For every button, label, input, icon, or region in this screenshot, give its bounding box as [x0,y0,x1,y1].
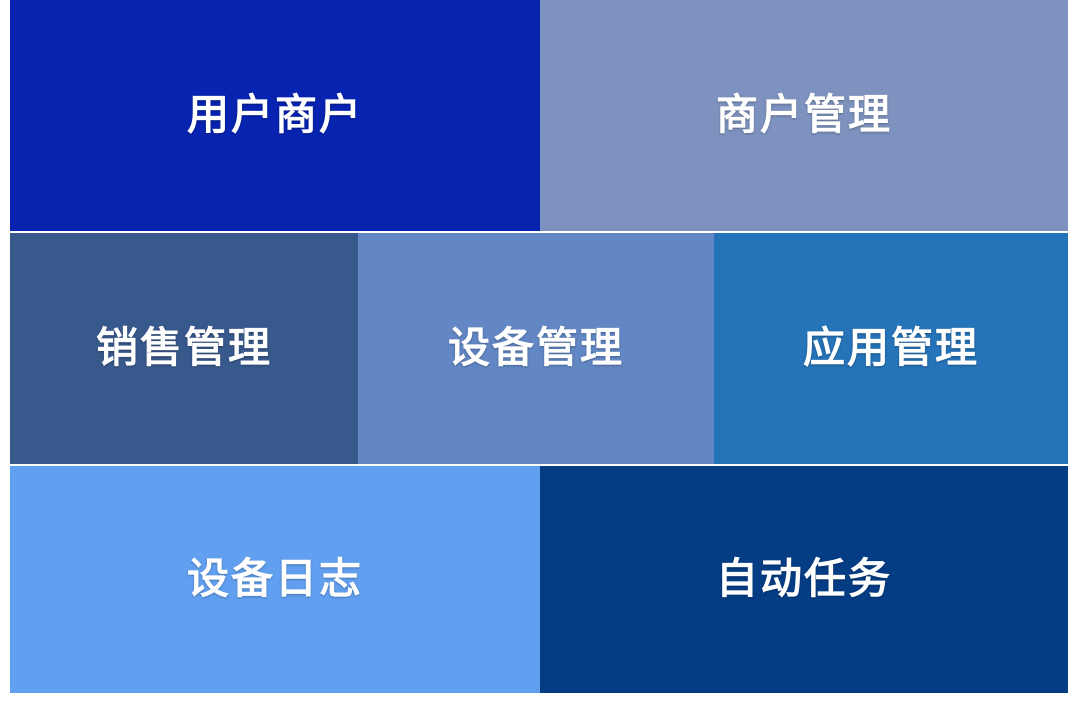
tile-device-log[interactable]: 设备日志 [10,466,540,693]
tile-label-app-management: 应用管理 [803,325,979,371]
tile-row-1: 用户商户 商户管理 [0,0,1080,231]
tile-user-merchant[interactable]: 用户商户 [10,0,540,231]
tile-label-device-log: 设备日志 [187,556,363,602]
module-tile-board: 用户商户 商户管理 销售管理 设备管理 应用管理 设备日志 自动任务 [0,0,1080,703]
tile-label-auto-task: 自动任务 [716,556,892,602]
tile-label-merchant-management: 商户管理 [716,92,892,138]
tile-row-2: 销售管理 设备管理 应用管理 [0,233,1080,464]
tile-label-user-merchant: 用户商户 [187,92,363,138]
tile-merchant-management[interactable]: 商户管理 [540,0,1068,231]
tile-row-3: 设备日志 自动任务 [0,466,1080,693]
tile-label-device-management: 设备管理 [448,325,624,371]
tile-app-management[interactable]: 应用管理 [714,233,1068,464]
tile-label-sales-management: 销售管理 [96,325,272,371]
tile-device-management[interactable]: 设备管理 [358,233,714,464]
tile-sales-management[interactable]: 销售管理 [10,233,358,464]
tile-auto-task[interactable]: 自动任务 [540,466,1068,693]
